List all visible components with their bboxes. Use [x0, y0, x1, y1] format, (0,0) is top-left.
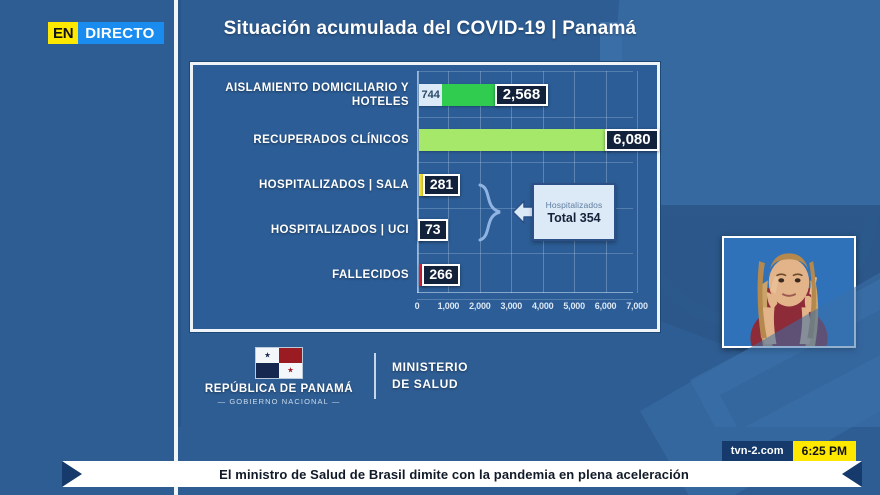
chart-row-label: HOSPITALIZADOS | SALA	[201, 161, 409, 209]
clock: 6:25 PM	[793, 441, 856, 461]
chart-bar-wrapper: 6,080	[419, 116, 659, 164]
chart-bar-wrapper: 7442,568	[419, 71, 548, 119]
chart-bar-wrapper: 73	[419, 206, 448, 254]
ministry-line-1: MINISTERIO	[392, 359, 468, 376]
callout-box: Hospitalizados Total 354	[532, 183, 616, 241]
ticker-bar: El ministro de Salud de Brasil dimite co…	[62, 461, 862, 487]
x-axis-tick-label: 1,000	[438, 301, 460, 311]
footer-logos: REPÚBLICA DE PANAMÁ — GOBIERNO NACIONAL …	[190, 345, 520, 407]
chart-bar[interactable]: 744	[419, 84, 500, 106]
government-subtitle: — GOBIERNO NACIONAL —	[218, 397, 341, 406]
chart-bar-wrapper: 281	[419, 161, 460, 209]
chart-row-label-line2: HOTELES	[352, 95, 409, 109]
chart-bar-wrapper: 266	[419, 251, 460, 299]
flag-quadrant-white-bottom	[279, 363, 302, 378]
logo-divider	[374, 353, 376, 399]
chart-value-label: 6,080	[605, 129, 659, 152]
x-axis-tick-label: 3,000	[501, 301, 523, 311]
callout-total: Total 354	[547, 211, 600, 225]
vertical-divider-shadow	[178, 0, 181, 428]
brand-website: tvn-2.com	[722, 441, 793, 461]
chart-value-label: 73	[418, 219, 448, 241]
chart-bar-segment	[419, 129, 610, 151]
ticker-headline: El ministro de Salud de Brasil dimite co…	[219, 467, 689, 482]
chart-value-label: 281	[423, 174, 460, 196]
chart-bar-segment	[442, 84, 499, 106]
chart-value-label: 266	[422, 264, 459, 286]
x-axis-ticks: 01,0002,0003,0004,0005,0006,0007,000	[417, 301, 647, 317]
chart-row[interactable]: FALLECIDOS266	[193, 251, 657, 299]
flag-quadrant-blue	[256, 363, 279, 378]
brand-row: tvn-2.com 6:25 PM	[722, 441, 856, 461]
x-axis-tick-label: 7,000	[626, 301, 648, 311]
live-badge-label: DIRECTO	[78, 22, 163, 44]
x-axis-tick-label: 6,000	[595, 301, 617, 311]
x-axis-tick-label: 0	[415, 301, 420, 311]
x-axis-tick-label: 4,000	[532, 301, 554, 311]
page-title: Situación acumulada del COVID-19 | Panam…	[195, 18, 665, 40]
chart-row-label-line1: HOSPITALIZADOS | SALA	[259, 178, 409, 192]
chart-row-label: RECUPERADOS CLÍNICOS	[201, 116, 409, 164]
ministry-line-2: DE SALUD	[392, 376, 468, 393]
flag-quadrant-red	[279, 348, 302, 363]
ministry-block: MINISTERIO DE SALUD	[392, 359, 468, 394]
chart-row-label: HOSPITALIZADOS | UCI	[201, 206, 409, 254]
government-name: REPÚBLICA DE PANAMÁ	[205, 383, 353, 395]
chart-row-label-line1: FALLECIDOS	[332, 268, 409, 282]
x-axis-tick-label: 5,000	[563, 301, 585, 311]
gridline-horizontal	[417, 299, 633, 300]
chart-bar[interactable]	[419, 129, 610, 151]
flag-quadrant-white-top	[256, 348, 279, 363]
chart-row-label-line1: RECUPERADOS CLÍNICOS	[253, 133, 409, 147]
background-left-panel	[0, 0, 175, 425]
lower-third-ticker: tvn-2.com 6:25 PM El ministro de Salud d…	[0, 427, 880, 495]
chart-row-label: AISLAMIENTO DOMICILIARIO YHOTELES	[201, 71, 409, 119]
chart-row-label-line1: AISLAMIENTO DOMICILIARIO Y	[225, 81, 409, 95]
live-badge: EN DIRECTO	[48, 22, 164, 44]
x-axis-tick-label: 2,000	[469, 301, 491, 311]
panama-flag-icon	[255, 347, 303, 379]
government-logo-block: REPÚBLICA DE PANAMÁ — GOBIERNO NACIONAL …	[190, 347, 368, 406]
chart-row[interactable]: RECUPERADOS CLÍNICOS6,080	[193, 116, 657, 164]
live-badge-prefix: EN	[48, 22, 78, 44]
callout-title: Hospitalizados	[546, 200, 603, 210]
callout-brace	[478, 182, 518, 244]
chart-row-label-line1: HOSPITALIZADOS | UCI	[271, 223, 409, 237]
chart-bar-segment: 744	[419, 84, 442, 106]
chart-bar-segment-label: 744	[418, 89, 444, 101]
chart-row-label: FALLECIDOS	[201, 251, 409, 299]
chart-value-label: 2,568	[495, 84, 549, 107]
chart-row[interactable]: AISLAMIENTO DOMICILIARIO YHOTELES7442,56…	[193, 71, 657, 119]
